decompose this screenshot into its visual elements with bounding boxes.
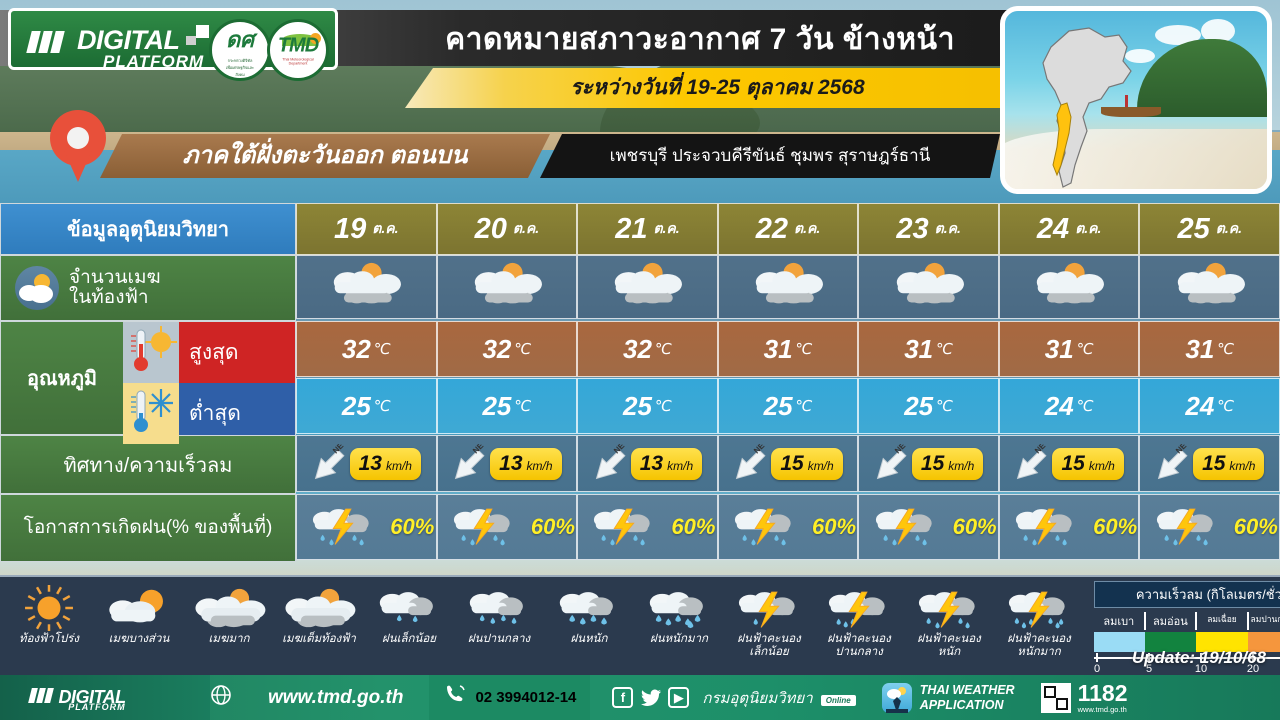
day-number: 25 [1178, 213, 1210, 246]
cloud-cells [296, 255, 1280, 321]
wind-scale-title: ความเร็วลม (กิโลเมตร/ชั่วโมง) [1094, 581, 1280, 608]
moderate-thunderstorm-icon [814, 585, 904, 631]
footer-department-text: กรมอุตุนิยมวิทยา [702, 690, 812, 707]
wind-direction-arrow-icon: NE [733, 444, 767, 484]
wind-direction-arrow-icon: NE [1155, 444, 1189, 484]
day-header-cells: 19ต.ค.20ต.ค.21ต.ค.22ต.ค.23ต.ค.24ต.ค.25ต.… [296, 203, 1280, 255]
wind-direction-label: NE [471, 444, 486, 455]
rain-row-label: โอกาสการเกิดฝน (% ของพื้นที่) [1, 495, 295, 561]
wind-speed-value: 15 [1202, 452, 1225, 476]
legend-item-label: ฝนเล็กน้อย [382, 633, 436, 646]
legend-item: ฝนปานกลาง [454, 581, 544, 675]
day-header-cell: 25ต.ค. [1139, 203, 1280, 255]
wind-cell: NE 13km/h [437, 435, 578, 492]
forecast-table: ข้อมูลอุตุนิยมวิทยา 19ต.ค.20ต.ค.21ต.ค.22… [0, 203, 1280, 562]
rain-cell: 60% [437, 494, 578, 560]
island-hill [1137, 39, 1267, 117]
wind-cell: NE 15km/h [999, 435, 1140, 492]
rain-cell: 60% [858, 494, 999, 560]
temp-high-cell: 31℃ [999, 321, 1140, 377]
cloud-row: จำนวนเมฆ ในท้องฟ้า [0, 255, 1280, 321]
day-number: 23 [896, 213, 928, 246]
rain-row: โอกาสการเกิดฝน (% ของพื้นที่) 60% 60% [0, 494, 1280, 562]
footer-department: กรมอุตุนิยมวิทยา Online [702, 686, 855, 710]
temp-high-cell: 32℃ [296, 321, 437, 377]
globe-icon [210, 684, 232, 711]
temp-unit: ℃ [936, 340, 953, 358]
wind-speed-badge: 15km/h [1052, 448, 1123, 480]
legend-item: ฝนหนักมาก [634, 581, 724, 675]
wind-direction-arrow-icon: NE [452, 444, 486, 484]
wind-direction-arrow-icon: NE [1014, 444, 1048, 484]
temp-value: 32 [623, 334, 652, 365]
sun-cloud-icon [94, 585, 184, 631]
temp-low-cells: 25℃25℃25℃25℃25℃24℃24℃ [296, 378, 1280, 435]
cloudy-sun-icon [601, 260, 693, 315]
temp-high-cell: 31℃ [858, 321, 999, 377]
temp-value: 32 [342, 334, 371, 365]
wind-direction-arrow-icon: NE [874, 444, 908, 484]
wind-cell: NE 15km/h [718, 435, 859, 492]
day-month: ต.ค. [372, 218, 398, 240]
thunderstorm-icon [720, 502, 810, 553]
temp-high-cell: 32℃ [437, 321, 578, 377]
overcast-icon [274, 585, 364, 631]
wind-cell: NE 15km/h [1139, 435, 1280, 492]
footer-logo: DIGITAL PLATFORM [0, 675, 210, 720]
day-month: ต.ค. [653, 218, 679, 240]
temp-value: 31 [764, 334, 793, 365]
temp-unit: ℃ [796, 340, 813, 358]
day-number: 19 [334, 213, 366, 246]
provinces-list: เพชรบุรี ประจวบคีรีขันธ์ ชุมพร สุราษฎร์ธ… [540, 134, 1000, 178]
rain-probability: 60% [390, 514, 434, 540]
table-header-label: ข้อมูลอุตุนิยมวิทยา [0, 203, 296, 255]
wind-speed-badge: 15km/h [771, 448, 842, 480]
temperature-row-label: อุณหภูมิ [1, 322, 295, 434]
footer-bar: DIGITAL PLATFORM www.tmd.go.th 02 [0, 675, 1280, 720]
ministry-seal-icon: ดศ กระทรวงดิจิทัลเพื่อเศรษฐกิจและสังคม [209, 19, 271, 81]
temp-value: 25 [764, 391, 793, 422]
temp-low-cell: 25℃ [718, 378, 859, 434]
wind-scale-name: ลมปานกลาง [1249, 612, 1280, 630]
tmd-logo-icon: TMD Thai Meteorological Department [267, 19, 329, 81]
temp-value: 25 [482, 391, 511, 422]
legend-item: ฝนฟ้าคะนองหนักมาก [994, 581, 1084, 675]
wind-speed-unit: km/h [808, 459, 834, 473]
cloudy-sun-icon [883, 260, 975, 315]
day-header-cell: 22ต.ค. [718, 203, 859, 255]
digital-platform-wordmark: DIGITAL PLATFORM [29, 25, 229, 75]
wind-speed-value: 15 [780, 452, 803, 476]
ministry-seal-caption: กระทรวงดิจิทัลเพื่อเศรษฐกิจและสังคม [226, 57, 254, 78]
footer-brand-sub: PLATFORM [68, 702, 125, 712]
cloud-cell [858, 255, 999, 319]
legend-item: ฝนฟ้าคะนองหนัก [904, 581, 994, 675]
update-timestamp: Update: 19/10/68 [1132, 648, 1266, 668]
temp-value: 31 [1045, 334, 1074, 365]
temp-unit: ℃ [936, 397, 953, 415]
cloud-cell [1139, 255, 1280, 319]
legend-item-label: ฝนหนัก [570, 633, 607, 646]
rain-probability: 60% [953, 514, 997, 540]
cloud-cell [999, 255, 1140, 319]
cloudy-sun-icon [1023, 260, 1115, 315]
cloud-label-line1: จำนวนเมฆ [69, 268, 161, 288]
day-header-cell: 19ต.ค. [296, 203, 437, 255]
sun-cloud-icon [15, 266, 59, 310]
cloudy-sun-icon [320, 260, 412, 315]
legend-item: เมฆบางส่วน [94, 581, 184, 675]
temp-low-cell: 24℃ [999, 378, 1140, 434]
footer-bars-icon [30, 690, 54, 707]
rain-probability: 60% [1234, 514, 1278, 540]
ministry-seal-mark: ดศ [226, 27, 254, 52]
wind-direction-arrow-icon: NE [312, 444, 346, 484]
temp-low-cell: 25℃ [437, 378, 578, 434]
wind-cell: NE 13km/h [577, 435, 718, 492]
wind-direction-label: NE [612, 444, 627, 455]
day-month: ต.ค. [794, 218, 820, 240]
wind-speed-unit: km/h [527, 459, 553, 473]
wind-cell: NE 15km/h [858, 435, 999, 492]
temp-value: 25 [623, 391, 652, 422]
wind-cell: NE 13km/h [296, 435, 437, 492]
digital-platform-logo: DIGITAL PLATFORM ดศ กระทรวงดิจิทัลเพื่อเ… [8, 8, 338, 70]
legend-item-label: ฝนฟ้าคะนองเล็กน้อย [737, 633, 800, 658]
sun-icon [4, 585, 94, 631]
temp-unit: ℃ [1077, 340, 1094, 358]
wind-scale-names: ลมเบาลมอ่อนลมเฉื่อยลมปานกลางลมแรง [1094, 612, 1280, 630]
tmd-label: TMD [278, 35, 318, 57]
cloudy-sun-icon [184, 585, 274, 631]
light-thunderstorm-icon [724, 585, 814, 631]
wind-direction-label: NE [752, 444, 767, 455]
legend-items: ท้องฟ้าโปร่ง เมฆบางส่วน เมฆมาก เมฆเต็มท้ [0, 577, 1088, 675]
thunderstorm-icon [579, 502, 669, 553]
wind-direction-arrow-icon: NE [593, 444, 627, 484]
cloudy-sun-icon [742, 260, 834, 315]
wind-scale-tick [1096, 653, 1098, 662]
legend-item-label: ฝนปานกลาง [468, 633, 530, 646]
temp-value: 25 [904, 391, 933, 422]
heavy-rain-icon [544, 585, 634, 631]
rain-cell: 60% [577, 494, 718, 560]
footer-online-tag: Online [821, 695, 856, 706]
legend-item-label: ฝนฟ้าคะนองหนักมาก [1007, 633, 1070, 658]
temp-low-cell: 25℃ [296, 378, 437, 434]
hotline-number: 1182 [1078, 682, 1128, 705]
cloud-cell [296, 255, 437, 319]
qr-code-icon [1041, 683, 1071, 713]
temp-unit: ℃ [514, 340, 531, 358]
wind-speed-unit: km/h [667, 459, 693, 473]
footer-phone[interactable]: 02 3994012-14 [429, 675, 590, 720]
legend-item: ฝนหนัก [544, 581, 634, 675]
temp-low-cell: 25℃ [577, 378, 718, 434]
thunderstorm-icon [439, 502, 529, 553]
wind-direction-label: NE [331, 444, 346, 455]
hotline-site: www.tmd.go.th [1078, 705, 1128, 714]
footer-app[interactable]: THAI WEATHER APPLICATION [882, 683, 1015, 713]
wind-speed-badge: 13km/h [350, 448, 421, 480]
legend-item-label: ท้องฟ้าโปร่ง [19, 633, 79, 646]
wind-speed-value: 15 [1061, 452, 1084, 476]
day-header-cell: 24ต.ค. [999, 203, 1140, 255]
wind-direction-label: NE [1034, 444, 1049, 455]
legend-item-label: เมฆเต็มท้องฟ้า [282, 633, 356, 646]
logo-square-icon [196, 25, 209, 38]
wind-speed-value: 13 [499, 452, 522, 476]
wind-speed-unit: km/h [948, 459, 974, 473]
wind-scale-name: ลมอ่อน [1146, 612, 1198, 630]
temp-value: 24 [1045, 391, 1074, 422]
day-number: 21 [615, 213, 647, 246]
wind-row-label: ทิศทาง/ความเร็วลม [1, 436, 295, 493]
app-line2: APPLICATION [920, 698, 1015, 712]
rain-probability: 60% [1093, 514, 1137, 540]
region-map-photo [1000, 6, 1272, 194]
day-header-cell: 23ต.ค. [858, 203, 999, 255]
day-header-cell: 21ต.ค. [577, 203, 718, 255]
cloud-cell [718, 255, 859, 319]
legend-item: ฝนฟ้าคะนองปานกลาง [814, 581, 904, 675]
temp-unit: ℃ [374, 397, 391, 415]
day-month: ต.ค. [513, 218, 539, 240]
footer-qr[interactable]: 1182 www.tmd.go.th [1041, 682, 1128, 714]
day-number: 24 [1037, 213, 1069, 246]
wind-row: ทิศทาง/ความเร็วลม NE 13km/h NE 13km/h [0, 435, 1280, 494]
cloud-row-label: จำนวนเมฆ ในท้องฟ้า [1, 256, 295, 320]
wind-speed-value: 13 [640, 452, 663, 476]
legend-item-label: เมฆบางส่วน [109, 633, 170, 646]
temp-unit: ℃ [1217, 397, 1234, 415]
logo-platform-text: PLATFORM [103, 52, 204, 72]
temp-value: 25 [342, 391, 371, 422]
temp-unit: ℃ [374, 340, 391, 358]
temp-high-cell: 31℃ [718, 321, 859, 377]
light-rain-icon [364, 585, 454, 631]
legend-item: ฝนฟ้าคะนองเล็กน้อย [724, 581, 814, 675]
temp-unit: ℃ [514, 397, 531, 415]
wind-scale-name: ลมเฉื่อย [1197, 612, 1249, 630]
tmd-caption: Thai Meteorological Department [278, 58, 318, 66]
temp-value: 31 [1185, 334, 1214, 365]
cloud-label-line2: ในท้องฟ้า [69, 288, 161, 308]
rain-label-line2: (% ของพื้นที่) [166, 517, 273, 539]
rain-label-line1: โอกาสการเกิดฝน [24, 517, 166, 539]
day-month: ต.ค. [1216, 218, 1242, 240]
logo-square-shadow-icon [186, 36, 196, 45]
cloudy-sun-icon [1164, 260, 1256, 315]
twitter-icon[interactable] [640, 687, 661, 708]
wind-speed-badge: 13km/h [490, 448, 561, 480]
logo-bars-icon [29, 31, 65, 58]
rain-cell: 60% [718, 494, 859, 560]
legend-item: ท้องฟ้าโปร่ง [4, 581, 94, 675]
rain-cells: 60% 60% 60% 60% [296, 494, 1280, 562]
wind-scale-tick-label: 0 [1094, 663, 1100, 675]
legend-item-label: ฝนฟ้าคะนองหนัก [917, 633, 980, 658]
facebook-icon[interactable]: f [612, 687, 633, 708]
temp-unit: ℃ [655, 340, 672, 358]
thunderstorm-icon [298, 502, 388, 553]
rain-probability: 60% [531, 514, 575, 540]
rain-cell: 60% [296, 494, 437, 560]
weather-forecast-infographic: คาดหมายสภาวะอากาศ 7 วัน ข้างหน้า ระหว่าง… [0, 0, 1280, 720]
rain-cell: 60% [1139, 494, 1280, 560]
wind-scale-name: ลมเบา [1094, 612, 1146, 630]
temp-high-cells: 32℃32℃32℃31℃31℃31℃31℃ [296, 321, 1280, 378]
thunderstorm-icon [861, 502, 951, 553]
temp-unit: ℃ [655, 397, 672, 415]
day-header-cell: 20ต.ค. [437, 203, 578, 255]
heavy-thunderstorm-icon [904, 585, 994, 631]
wind-speed-badge: 15km/h [1193, 448, 1264, 480]
phone-icon [443, 683, 467, 712]
temp-unit: ℃ [1217, 340, 1234, 358]
moderate-rain-icon [454, 585, 544, 631]
temp-high-cell: 32℃ [577, 321, 718, 377]
rain-probability: 60% [671, 514, 715, 540]
location-pin-icon [50, 110, 106, 182]
cloudy-sun-icon [461, 260, 553, 315]
temp-low-cell: 24℃ [1139, 378, 1280, 434]
wind-direction-label: NE [1174, 444, 1189, 455]
temperature-row: อุณหภูมิ [0, 321, 1280, 435]
day-number: 22 [756, 213, 788, 246]
thermometer-cold-icon [123, 383, 179, 444]
legend-item: ฝนเล็กน้อย [364, 581, 454, 675]
legend-item: เมฆเต็มท้องฟ้า [274, 581, 364, 675]
legend-item-label: เมฆมาก [208, 633, 249, 646]
temp-low-cell: 25℃ [858, 378, 999, 434]
footer-website[interactable]: www.tmd.go.th [210, 684, 403, 711]
youtube-icon[interactable]: ▶ [668, 687, 689, 708]
wind-speed-unit: km/h [1229, 459, 1255, 473]
very-heavy-thunderstorm-icon [994, 585, 1084, 631]
legend-bar: ท้องฟ้าโปร่ง เมฆบางส่วน เมฆมาก เมฆเต็มท้ [0, 575, 1280, 675]
footer-social: f ▶ กรมอุตุนิยมวิทยา Online [612, 686, 855, 710]
day-month: ต.ค. [1075, 218, 1101, 240]
thailand-map-icon [1027, 25, 1147, 190]
temp-high-cell: 31℃ [1139, 321, 1280, 377]
very-heavy-rain-icon [634, 585, 724, 631]
wind-speed-badge: 15km/h [912, 448, 983, 480]
footer-phone-text: 02 3994012-14 [475, 689, 576, 706]
temp-value: 31 [904, 334, 933, 365]
day-month: ต.ค. [935, 218, 961, 240]
wind-cells: NE 13km/h NE 13km/h NE [296, 435, 1280, 494]
temp-unit: ℃ [796, 397, 813, 415]
date-range-text: ระหว่างวันที่ 19-25 ตุลาคม 2568 [405, 68, 1030, 108]
temp-unit: ℃ [1077, 397, 1094, 415]
temp-value: 24 [1185, 391, 1214, 422]
wind-speed-value: 13 [359, 452, 382, 476]
thermometer-hot-icon [123, 322, 179, 383]
legend-item: เมฆมาก [184, 581, 274, 675]
thai-weather-app-icon [882, 683, 912, 713]
wind-speed-unit: km/h [1089, 459, 1115, 473]
cloud-cell [437, 255, 578, 319]
rain-cell: 60% [999, 494, 1140, 560]
rain-probability: 60% [812, 514, 856, 540]
table-header-row: ข้อมูลอุตุนิยมวิทยา 19ต.ค.20ต.ค.21ต.ค.22… [0, 203, 1280, 255]
wind-speed-badge: 13km/h [631, 448, 702, 480]
temperature-label: อุณหภูมิ [1, 322, 123, 434]
temp-value: 32 [482, 334, 511, 365]
wind-speed-value: 15 [921, 452, 944, 476]
wind-direction-label: NE [893, 444, 908, 455]
day-number: 20 [475, 213, 507, 246]
app-line1: THAI WEATHER [920, 683, 1015, 697]
footer-website-text: www.tmd.go.th [268, 687, 403, 709]
region-name: ภาคใต้ฝั่งตะวันออก ตอนบน [100, 134, 550, 178]
page-title: คาดหมายสภาวะอากาศ 7 วัน ข้างหน้า [390, 18, 1010, 62]
legend-item-label: ฝนหนักมาก [650, 633, 708, 646]
wind-speed-unit: km/h [386, 459, 412, 473]
legend-item-label: ฝนฟ้าคะนองปานกลาง [827, 633, 890, 658]
temp-high-label: สูงสุด [179, 322, 295, 383]
thunderstorm-icon [1001, 502, 1091, 553]
thunderstorm-icon [1142, 502, 1232, 553]
cloud-cell [577, 255, 718, 319]
